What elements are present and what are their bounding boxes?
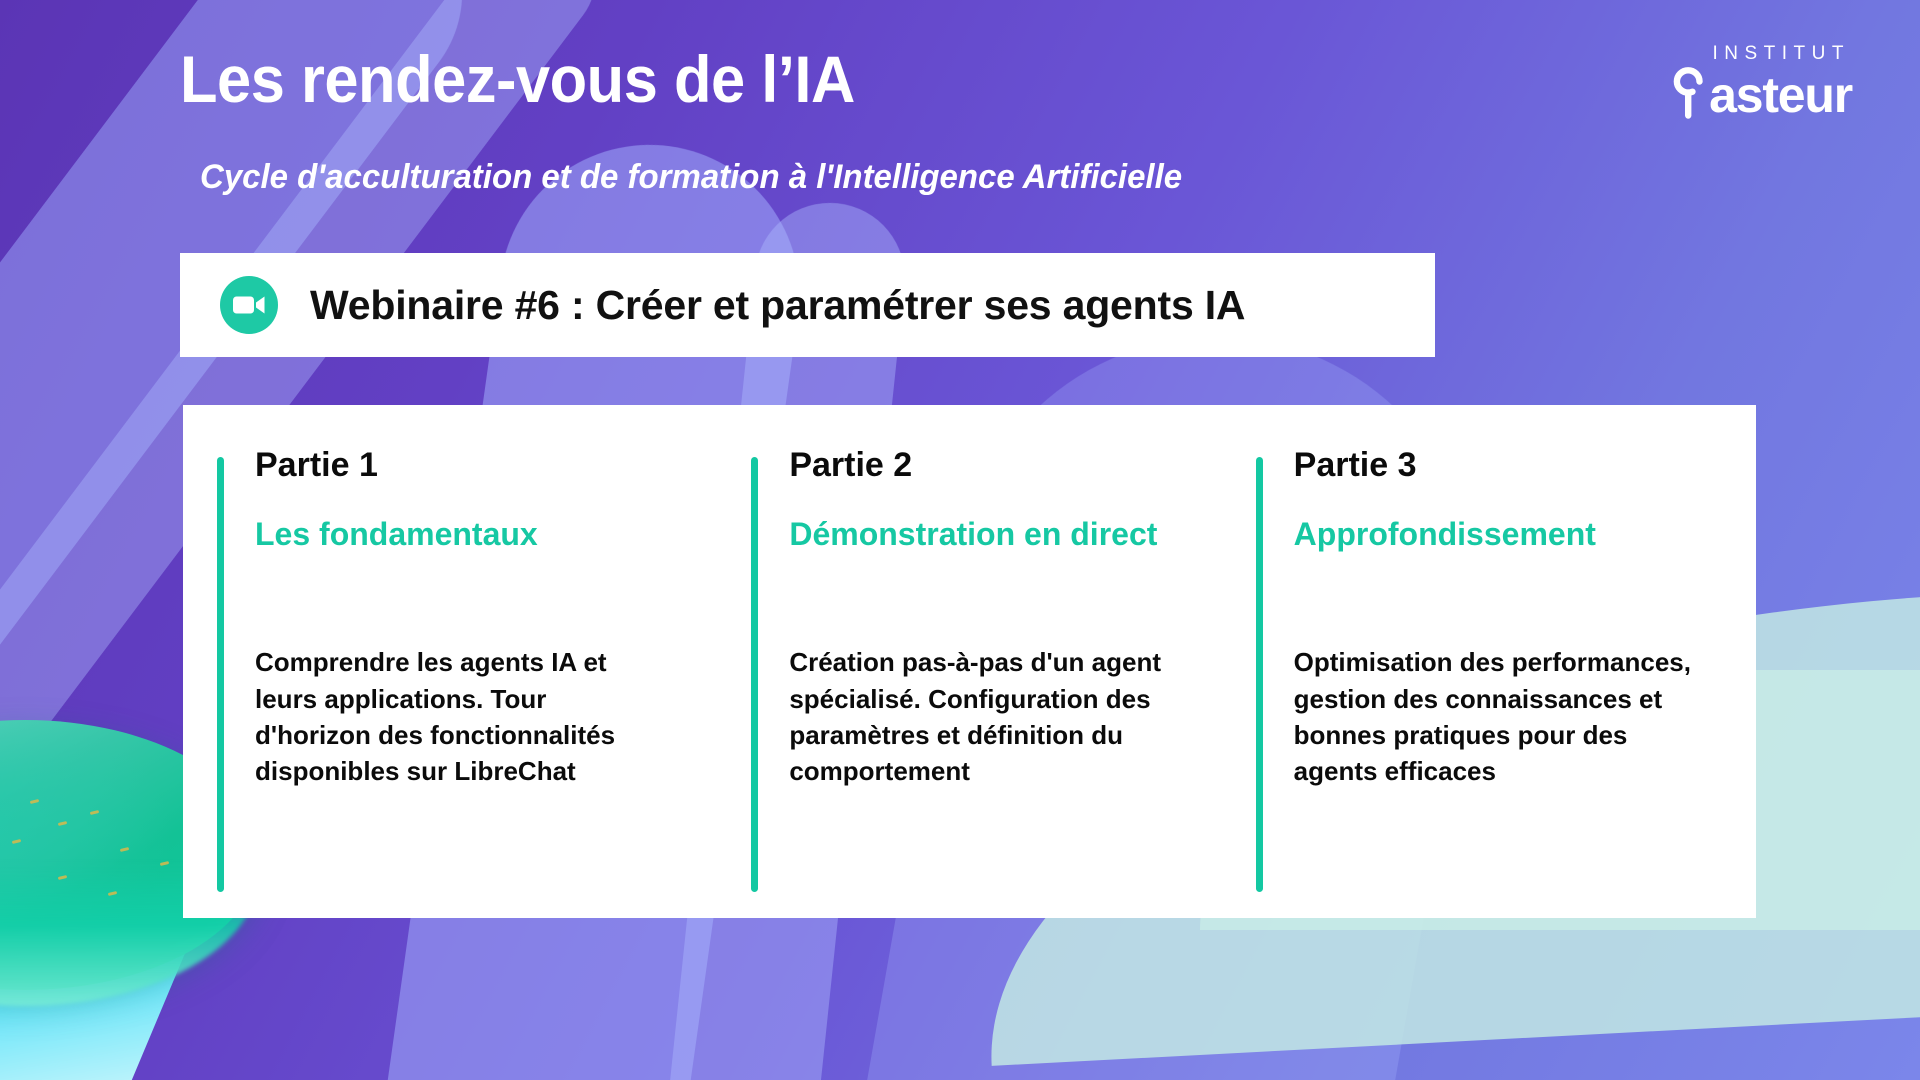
institut-pasteur-logo: INSTITUT asteur	[1622, 44, 1852, 119]
part-column-2: Partie 2 Démonstration en direct Créatio…	[717, 447, 1221, 886]
logo-institut-text: INSTITUT	[1622, 44, 1852, 63]
accent-bar	[1256, 457, 1263, 892]
gold-speck	[58, 821, 67, 826]
webinar-banner: Webinaire #6 : Créer et paramétrer ses a…	[180, 253, 1435, 357]
video-camera-icon	[220, 276, 278, 334]
gold-speck	[58, 875, 67, 880]
part-column-1: Partie 1 Les fondamentaux Comprendre les…	[183, 447, 717, 886]
page-title: Les rendez-vous de l’IA	[180, 45, 855, 114]
slide-root: Les rendez-vous de l’IA Cycle d'accultur…	[0, 0, 1920, 1080]
part-heading: Les fondamentaux	[255, 514, 657, 598]
part-body: Optimisation des performances, gestion d…	[1294, 644, 1696, 789]
part-number: Partie 1	[255, 447, 657, 484]
gold-speck	[108, 891, 117, 896]
part-number: Partie 2	[789, 447, 1191, 484]
gold-speck	[12, 839, 21, 844]
webinar-title: Webinaire #6 : Créer et paramétrer ses a…	[310, 282, 1245, 329]
gold-speck	[160, 861, 169, 866]
parts-card: Partie 1 Les fondamentaux Comprendre les…	[183, 405, 1756, 918]
accent-bar	[751, 457, 758, 892]
part-heading: Approfondissement	[1294, 514, 1696, 598]
gold-speck	[30, 799, 39, 804]
page-subtitle: Cycle d'acculturation et de formation à …	[200, 158, 1182, 197]
logo-pasteur-lockup: asteur	[1622, 67, 1852, 119]
part-heading: Démonstration en direct	[789, 514, 1191, 598]
part-body: Comprendre les agents IA et leurs applic…	[255, 644, 657, 789]
part-number: Partie 3	[1294, 447, 1696, 484]
part-column-3: Partie 3 Approfondissement Optimisation …	[1222, 447, 1756, 886]
gold-speck	[90, 810, 99, 815]
part-body: Création pas-à-pas d'un agent spécialisé…	[789, 644, 1191, 789]
accent-bar	[217, 457, 224, 892]
logo-pasteur-text: asteur	[1709, 72, 1852, 120]
gold-speck	[120, 847, 129, 852]
pasteur-p-icon	[1669, 67, 1711, 119]
